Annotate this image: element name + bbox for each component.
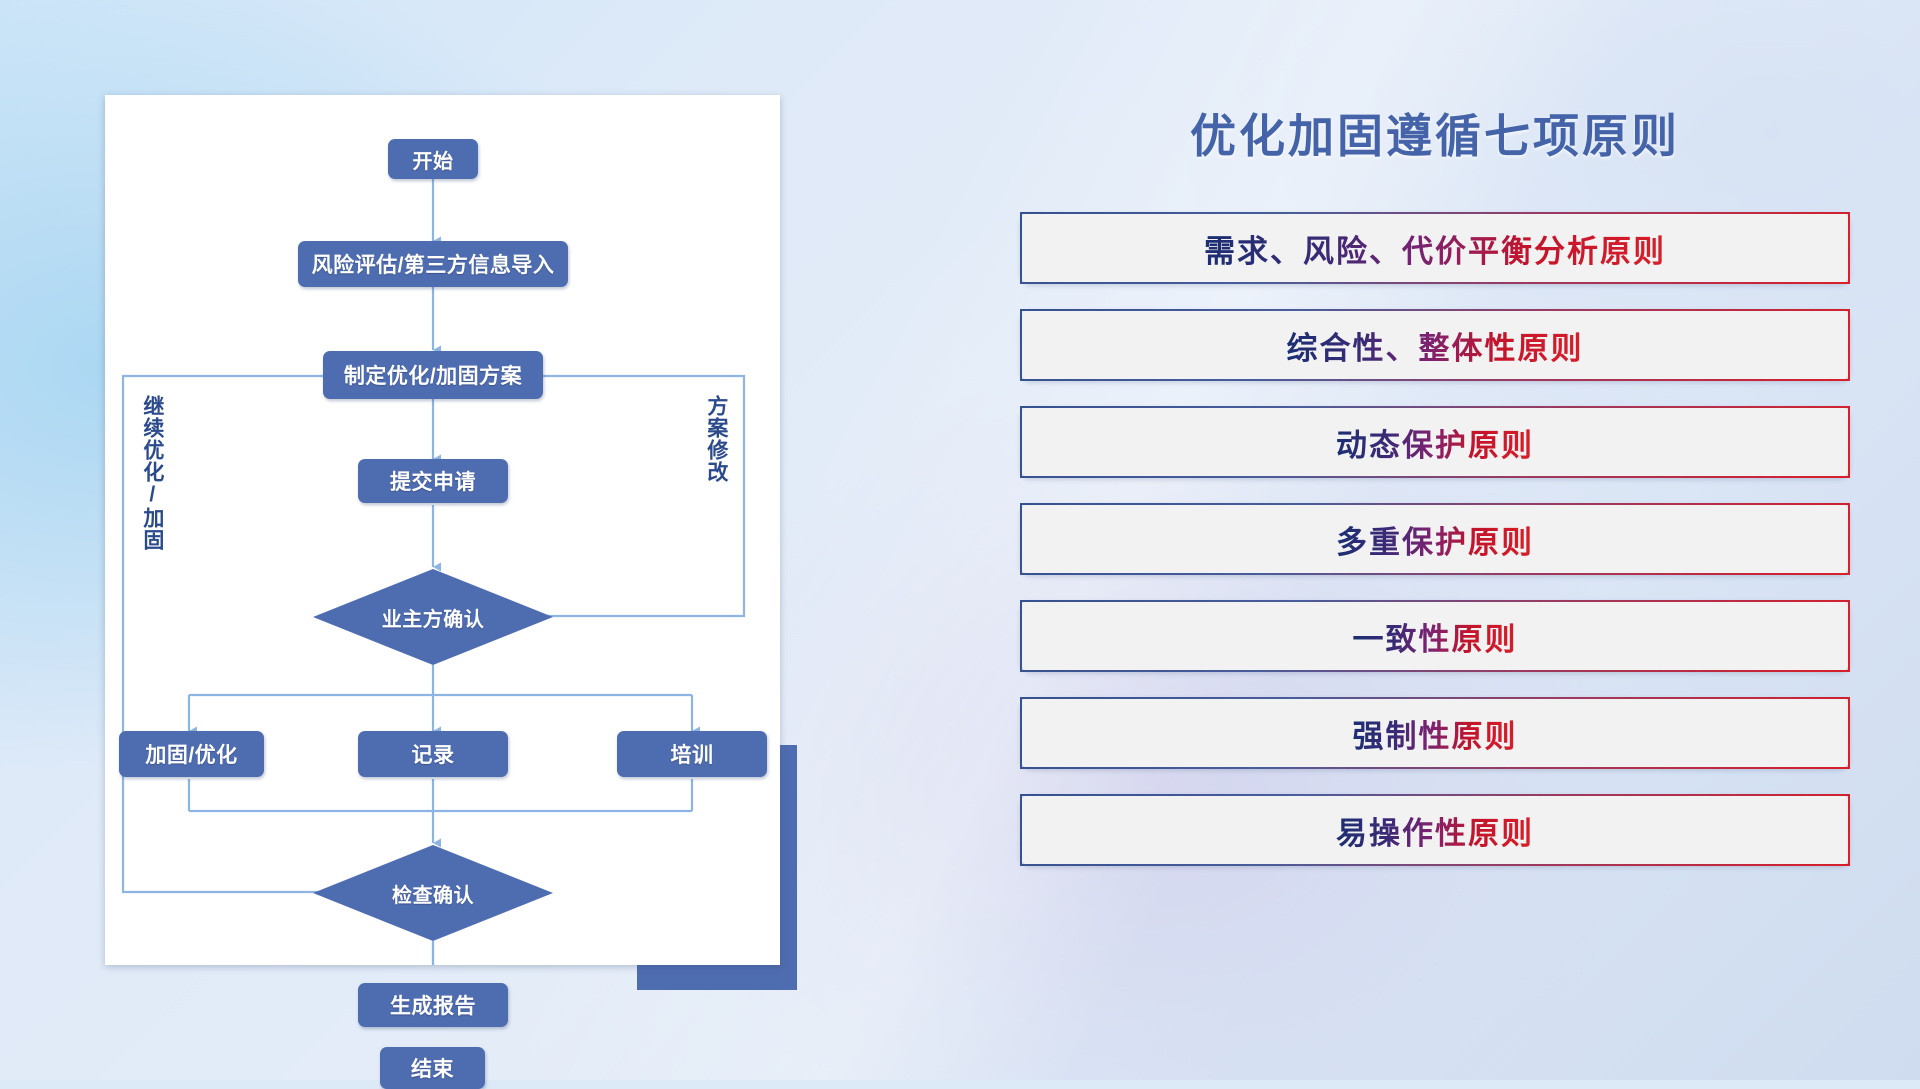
flowchart-panel: 开始 风险评估/第三方信息导入 制定优化/加固方案 提交申请 业主方确认 加固/… xyxy=(105,95,780,965)
principle-item-3[interactable]: 动态保护原则 xyxy=(1020,406,1850,478)
principle-item-1-label: 需求、风险、代价平衡分析原则 xyxy=(1204,226,1666,271)
page-title: 优化加固遵循七项原则 xyxy=(1020,100,1850,166)
flow-node-reinforce-label: 加固/优化 xyxy=(145,739,237,769)
flow-node-risk-assessment[interactable]: 风险评估/第三方信息导入 xyxy=(298,241,568,287)
flow-edge-label-right-loop: 方案修改 xyxy=(705,395,727,483)
flow-node-owner-confirm-label: 业主方确认 xyxy=(382,603,485,632)
flow-node-check-confirm[interactable]: 检查确认 xyxy=(313,845,553,941)
flow-edge-label-left-loop: 继续优化/加固 xyxy=(141,395,163,551)
principle-item-1[interactable]: 需求、风险、代价平衡分析原则 xyxy=(1020,212,1850,284)
flow-node-risk-assessment-label: 风险评估/第三方信息导入 xyxy=(312,249,555,279)
principle-item-2-label: 综合性、整体性原则 xyxy=(1287,323,1584,368)
flow-node-record[interactable]: 记录 xyxy=(358,731,508,777)
flow-node-end-label: 结束 xyxy=(411,1053,454,1083)
principle-item-7[interactable]: 易操作性原则 xyxy=(1020,794,1850,866)
flow-node-plan-label: 制定优化/加固方案 xyxy=(344,360,522,390)
principle-item-3-label: 动态保护原则 xyxy=(1336,420,1534,465)
flow-node-report[interactable]: 生成报告 xyxy=(358,983,508,1027)
flow-node-reinforce[interactable]: 加固/优化 xyxy=(119,731,264,777)
flow-node-start[interactable]: 开始 xyxy=(388,139,478,179)
principle-item-4[interactable]: 多重保护原则 xyxy=(1020,503,1850,575)
principles-panel: 优化加固遵循七项原则 需求、风险、代价平衡分析原则 综合性、整体性原则 动态保护… xyxy=(1020,100,1850,891)
principle-item-7-label: 易操作性原则 xyxy=(1336,808,1534,853)
principle-item-6[interactable]: 强制性原则 xyxy=(1020,697,1850,769)
flow-node-submit-label: 提交申请 xyxy=(390,466,476,496)
flow-node-check-confirm-label: 检查确认 xyxy=(392,879,474,908)
principle-item-6-label: 强制性原则 xyxy=(1353,711,1518,756)
flow-node-end[interactable]: 结束 xyxy=(380,1047,485,1089)
flow-node-training[interactable]: 培训 xyxy=(617,731,767,777)
flow-node-report-label: 生成报告 xyxy=(390,990,476,1020)
flow-node-training-label: 培训 xyxy=(671,739,714,769)
principle-item-5-label: 一致性原则 xyxy=(1353,614,1518,659)
principle-item-4-label: 多重保护原则 xyxy=(1336,517,1534,562)
principle-item-2[interactable]: 综合性、整体性原则 xyxy=(1020,309,1850,381)
flow-node-record-label: 记录 xyxy=(412,739,455,769)
principle-item-5[interactable]: 一致性原则 xyxy=(1020,600,1850,672)
flowchart-connectors-lower xyxy=(105,95,780,965)
flow-node-plan[interactable]: 制定优化/加固方案 xyxy=(323,351,543,399)
flow-node-owner-confirm[interactable]: 业主方确认 xyxy=(313,569,553,665)
flow-node-start-label: 开始 xyxy=(413,145,454,174)
flow-node-submit[interactable]: 提交申请 xyxy=(358,459,508,503)
